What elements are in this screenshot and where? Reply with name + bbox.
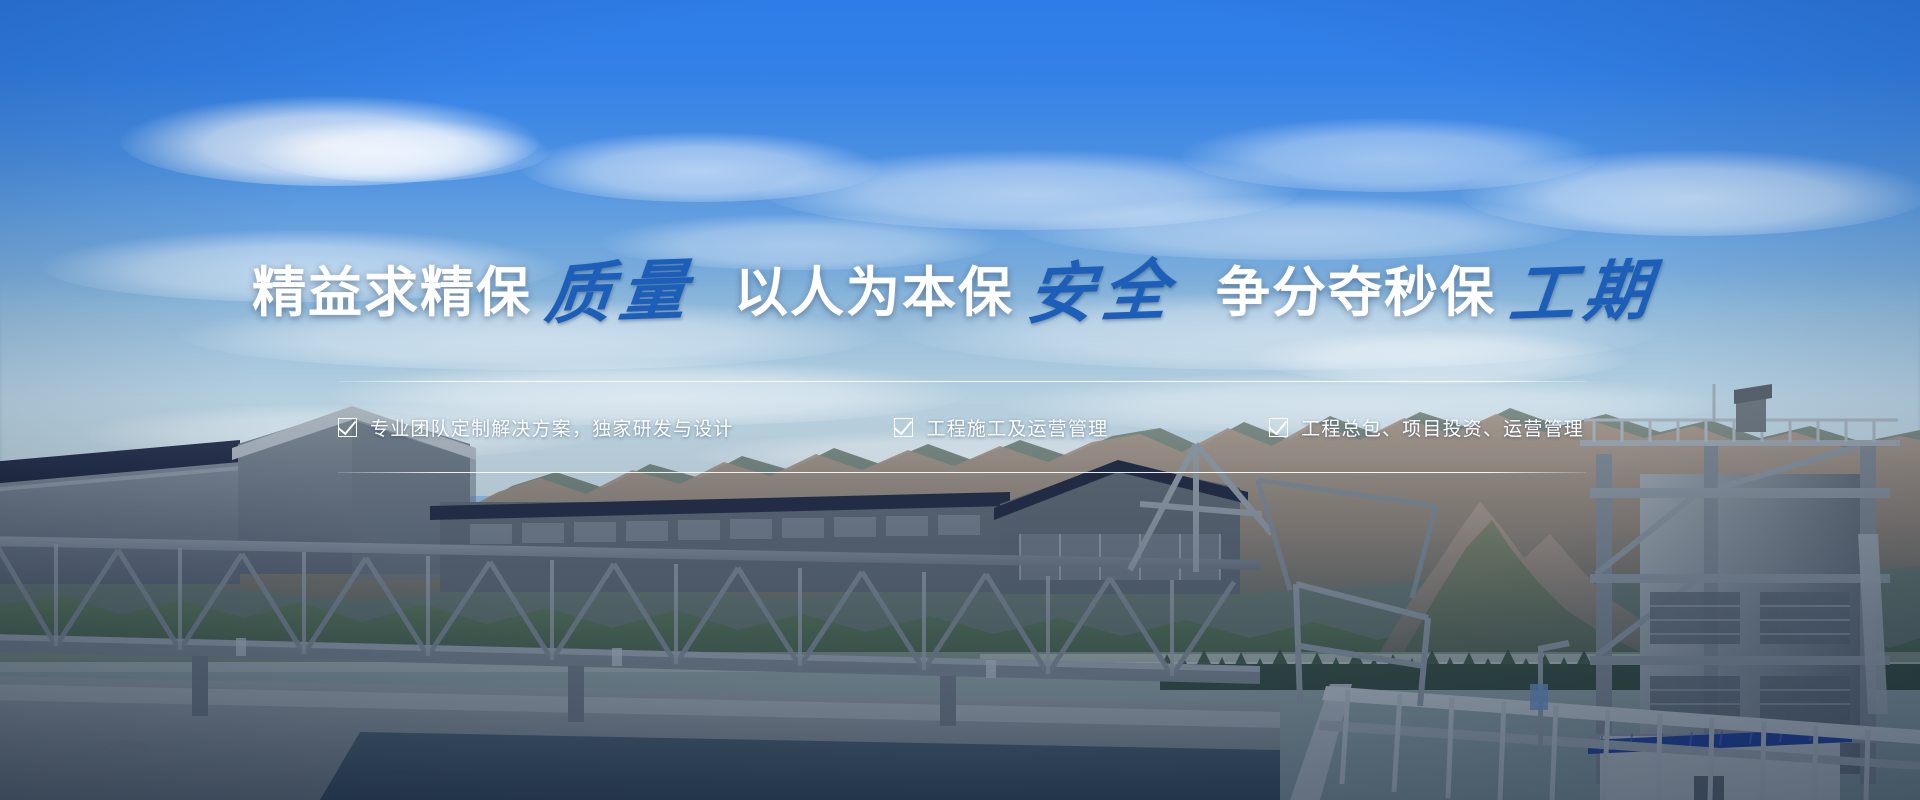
checkbox-checked-icon (338, 418, 357, 437)
banner-overlay: 精益求精保质量以人为本保安全争分夺秒保工期 专业团队定制解决方案，独家研发与设计… (0, 0, 1920, 800)
divider-bottom (338, 472, 1586, 473)
checkbox-checked-icon (894, 418, 913, 437)
headline-segment-3: 争分夺秒保 (1216, 266, 1496, 320)
feature-label: 工程总包、项目投资、运营管理 (1301, 414, 1584, 441)
feature-item-solutions[interactable]: 专业团队定制解决方案，独家研发与设计 (338, 414, 734, 441)
feature-label: 工程施工及运营管理 (926, 414, 1108, 441)
feature-strip: 专业团队定制解决方案，独家研发与设计 工程施工及运营管理 工程总包、项目投资、运… (338, 381, 1586, 473)
feature-item-construction[interactable]: 工程施工及运营管理 (894, 414, 1108, 441)
headline-segment-2: 以人为本保 (734, 266, 1014, 320)
headline-brush-quality: 质量 (542, 256, 698, 327)
hero-banner: 精益求精保质量以人为本保安全争分夺秒保工期 专业团队定制解决方案，独家研发与设计… (0, 0, 1920, 800)
checkbox-checked-icon (1269, 418, 1288, 437)
headline-brush-schedule: 工期 (1506, 256, 1662, 327)
feature-label: 专业团队定制解决方案，独家研发与设计 (370, 414, 734, 441)
headline-segment-1: 精益求精保 (252, 266, 532, 320)
banner-headline: 精益求精保质量以人为本保安全争分夺秒保工期 (0, 255, 1920, 321)
feature-item-epc[interactable]: 工程总包、项目投资、运营管理 (1269, 414, 1584, 441)
headline-brush-safety: 安全 (1024, 256, 1180, 327)
feature-row: 专业团队定制解决方案，独家研发与设计 工程施工及运营管理 工程总包、项目投资、运… (338, 382, 1586, 472)
